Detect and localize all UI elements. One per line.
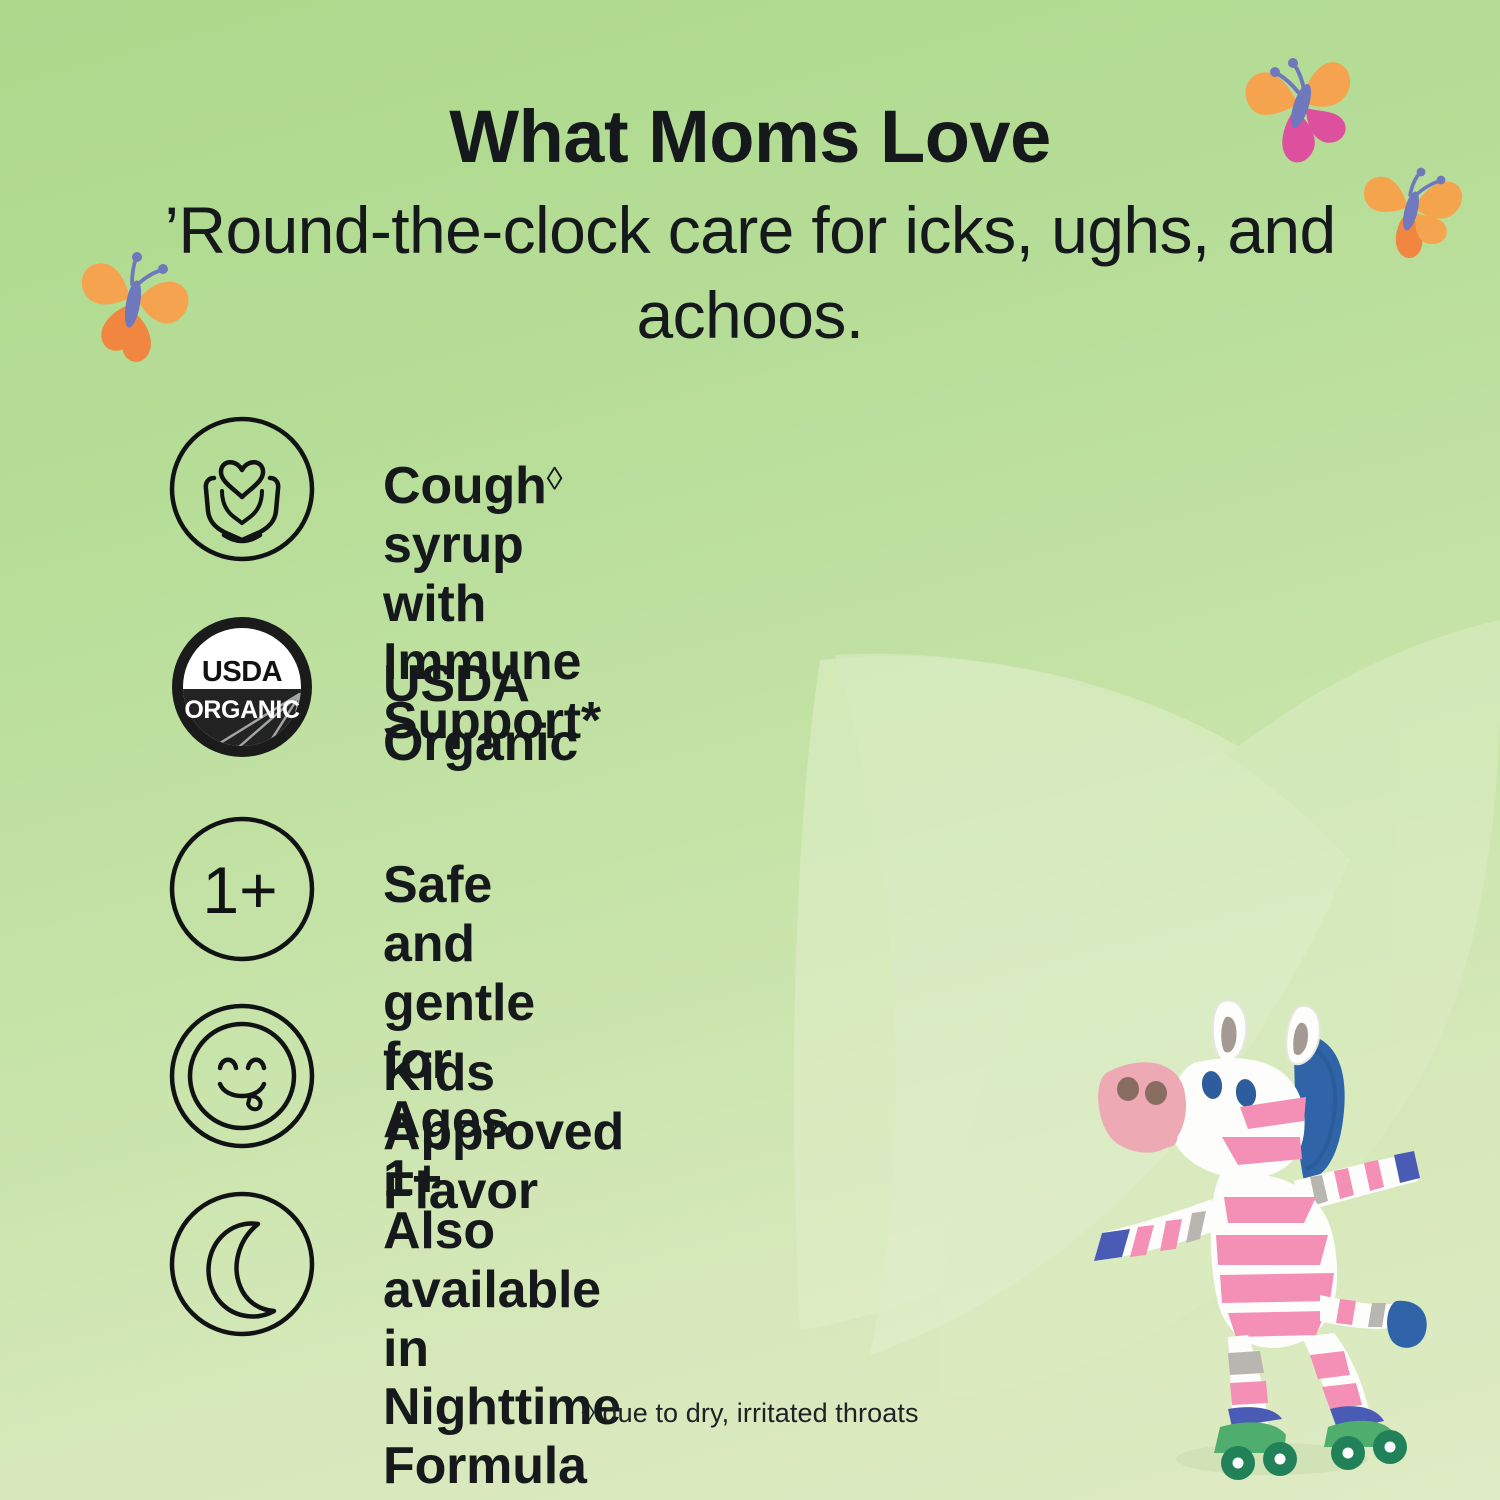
benefit-text-pre: Cough — [383, 457, 547, 515]
page-title: What Moms Love — [0, 98, 1500, 176]
seal-top-text: USDA — [202, 656, 283, 688]
crescent-moon-icon — [168, 1190, 316, 1338]
benefit-label-usda-organic: USDA Organic — [383, 655, 578, 773]
diamond-footnote-marker: ◊ — [547, 460, 563, 496]
product-benefits-infographic: What Moms Love ’Round-the-clock care for… — [0, 0, 1500, 1500]
svg-text:1+: 1+ — [202, 853, 277, 927]
seal-bottom-text: ORGANIC — [184, 696, 300, 724]
page-subtitle: ’Round-the-clock care for icks, ughs, an… — [120, 188, 1380, 358]
footnote-disclaimer: ◊ due to dry, irritated throats — [0, 1398, 1500, 1429]
smiley-tongue-icon — [168, 1002, 316, 1150]
usda-organic-seal-icon: USDA ORGANIC — [168, 613, 316, 761]
benefit-label-flavor: Kids Approved Flavor — [383, 1044, 624, 1220]
age-1-plus-icon: 1+ — [168, 815, 316, 963]
benefit-label-nighttime: Also available in Nighttime Formula — [383, 1202, 621, 1496]
hands-holding-heart-icon — [168, 415, 316, 563]
